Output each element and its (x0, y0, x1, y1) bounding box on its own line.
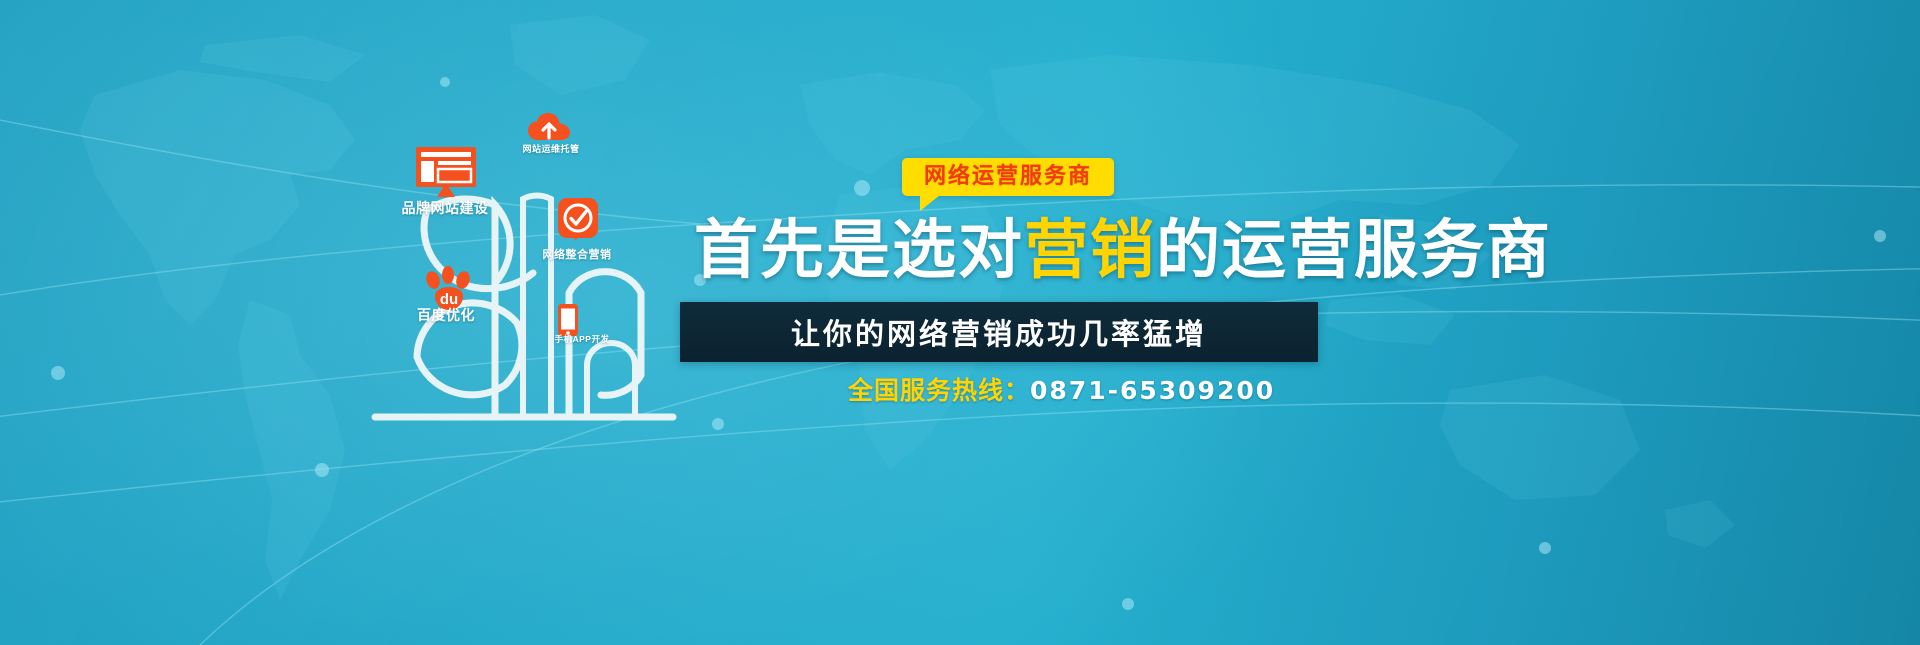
hotline-number: 0871-65309200 (1030, 376, 1275, 405)
hotline-label: 全国服务热线： (848, 377, 1030, 405)
tree-node-label-integrated-marketing: 网络整合营销 (531, 246, 623, 262)
tree-node-label-baidu-seo: 百度优化 (405, 305, 487, 325)
tree-node-label-app-development: 手机APP开发 (546, 333, 618, 345)
hotline: 全国服务热线：0871-65309200 (848, 378, 1275, 404)
subtitle-text: 让你的网络营销成功几率猛增 (791, 311, 1207, 353)
headline-accent: 营销 (1024, 214, 1156, 286)
cloud-upload-icon (527, 112, 571, 144)
marketing-banner: du 品牌网站建设 百度优化 网站运维托管 网络整合营销 手机APP开发 网 (0, 0, 1920, 645)
subtitle-bar: 让你的网络营销成功几率猛增 (680, 302, 1318, 362)
mobile-phone-icon (557, 303, 579, 337)
banner-headline: 首先是选对营销的运营服务商 (694, 218, 1552, 282)
tagline-badge: 网络运营服务商 (902, 158, 1114, 196)
monitor-icon (415, 146, 477, 198)
headline-part-1: 首先是选对 (694, 214, 1024, 286)
banner-copy-block: 网络运营服务商 首先是选对营销的运营服务商 让你的网络营销成功几率猛增 全国服务… (680, 150, 1810, 420)
check-badge-icon (557, 197, 599, 241)
tree-node-label-site-ops: 网站运维托管 (515, 142, 587, 155)
tree-node-label-brand-website: 品牌网站建设 (390, 198, 500, 218)
headline-part-2: 的运营服务商 (1156, 214, 1552, 286)
tagline-badge-text: 网络运营服务商 (924, 165, 1092, 187)
